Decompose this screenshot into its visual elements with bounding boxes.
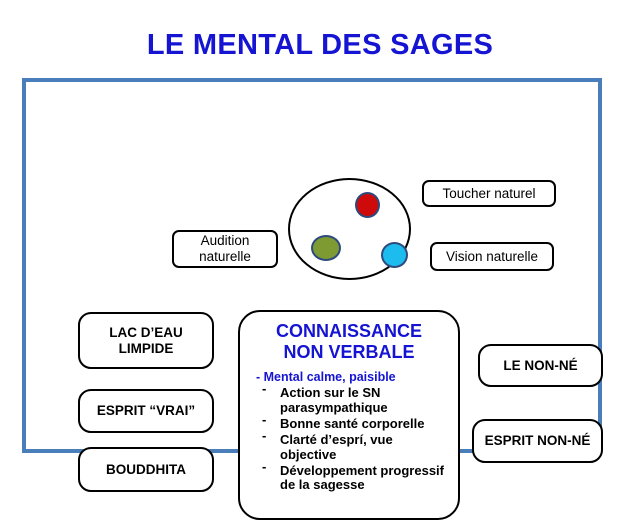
main-panel-bullet-item: Développement progressif de la sagesse bbox=[250, 464, 448, 494]
concept-bouddhita: BOUDDHITA bbox=[78, 447, 214, 492]
callout-audition-naturelle: Audition naturelle bbox=[172, 230, 278, 268]
callout-toucher-naturel: Toucher naturel bbox=[422, 180, 556, 207]
sense-dot-hearing-icon bbox=[311, 235, 341, 261]
diagram-frame: Toucher naturel Audition naturelle Visio… bbox=[22, 78, 602, 453]
main-panel-connaissance-non-verbale: CONNAISSANCE NON VERBALE - Mental calme,… bbox=[238, 310, 460, 520]
main-panel-heading: CONNAISSANCE NON VERBALE bbox=[250, 321, 448, 363]
callout-vision-naturelle: Vision naturelle bbox=[430, 242, 554, 271]
concept-esprit-non-ne: ESPRIT NON-NÉ bbox=[472, 419, 603, 463]
main-panel-bullet-item: Clarté d’esprí, vue objective bbox=[250, 433, 448, 463]
concept-le-non-ne: LE NON-NÉ bbox=[478, 344, 603, 387]
sense-dot-vision-icon bbox=[381, 242, 408, 268]
main-panel-bullet-item: Action sur le SN parasympathique bbox=[250, 386, 448, 416]
main-panel-bullet-list: Action sur le SN parasympathiqueBonne sa… bbox=[250, 386, 448, 493]
main-panel-lead-item: - Mental calme, paisible bbox=[250, 370, 448, 384]
concept-lac-deau-limpide: LAC D’EAU LIMPIDE bbox=[78, 312, 214, 369]
concept-esprit-vrai: ESPRIT “VRAI” bbox=[78, 389, 214, 433]
main-panel-bullet-item: Bonne santé corporelle bbox=[250, 417, 448, 432]
page-title: LE MENTAL DES SAGES bbox=[0, 29, 640, 62]
sense-dot-touch-icon bbox=[355, 192, 380, 218]
